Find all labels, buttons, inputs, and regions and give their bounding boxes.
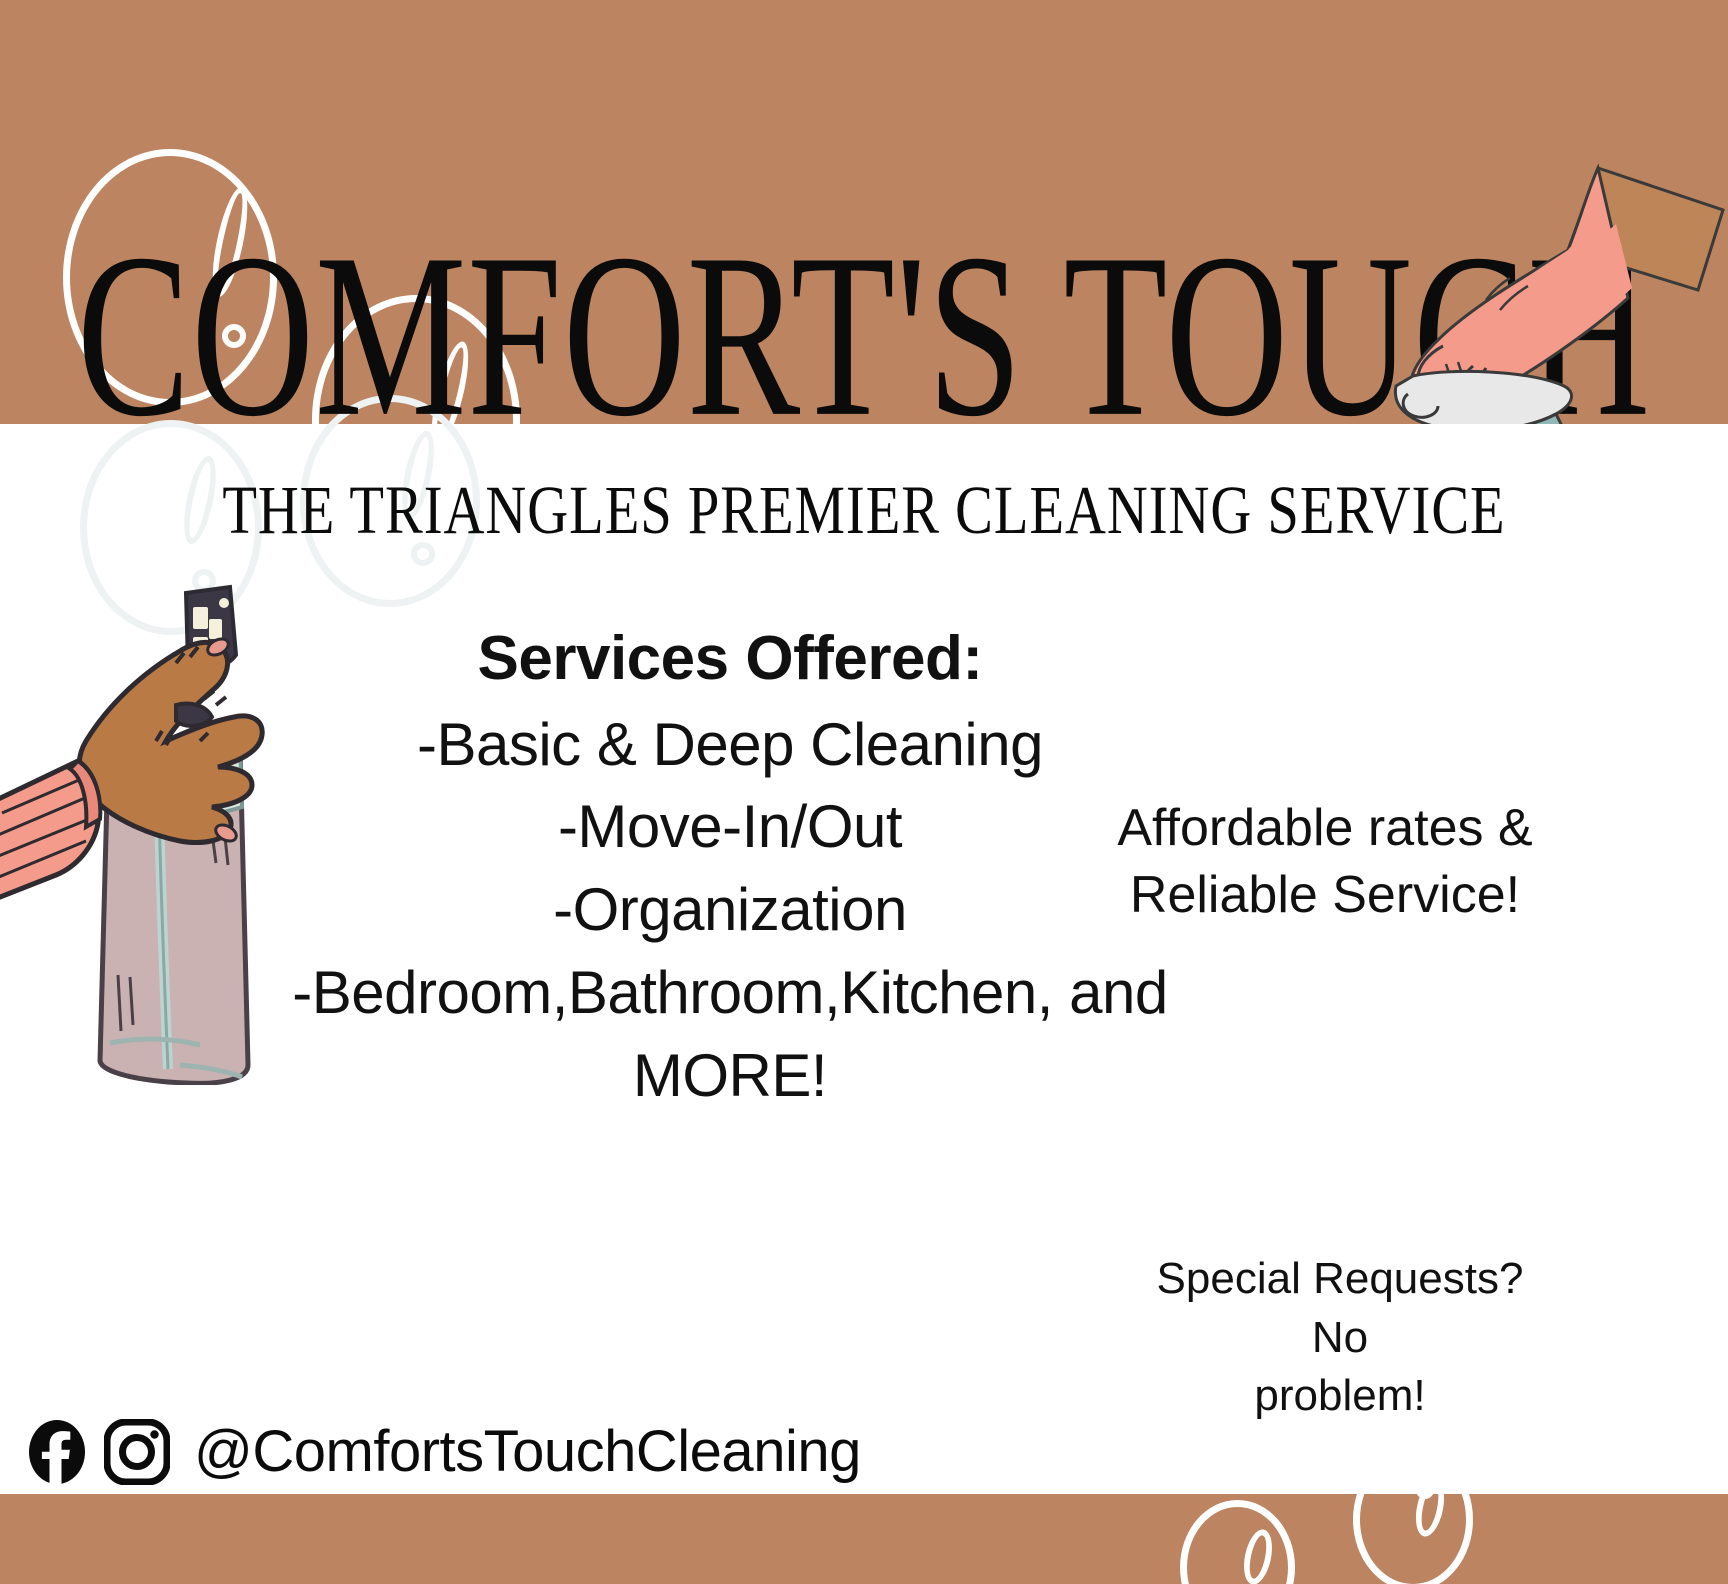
service-item: -Bedroom,Bathroom,Kitchen, and bbox=[180, 952, 1280, 1035]
bubble-highlight-dot bbox=[222, 324, 246, 348]
special-requests-note: Special Requests? No problem! bbox=[1130, 1250, 1550, 1426]
affordable-rates-note: Affordable rates & Reliable Service! bbox=[1090, 795, 1560, 928]
services-heading: Services Offered: bbox=[180, 620, 1280, 698]
bubble-highlight-streak bbox=[1239, 1527, 1276, 1584]
service-item: -Basic & Deep Cleaning bbox=[180, 704, 1280, 787]
rates-line-1: Affordable rates & bbox=[1090, 795, 1560, 862]
social-handle[interactable]: @ComfortsTouchCleaning bbox=[194, 1418, 861, 1485]
instagram-icon[interactable] bbox=[104, 1419, 170, 1485]
rates-line-2: Reliable Service! bbox=[1090, 862, 1560, 929]
bubble-highlight-dot bbox=[1416, 1481, 1434, 1499]
service-item: MORE! bbox=[180, 1035, 1280, 1118]
header-band: COMFORT'S TOUCH CLEANING bbox=[0, 0, 1728, 424]
bubble-highlight-streak bbox=[206, 185, 255, 300]
soap-bubble-icon bbox=[1353, 1448, 1473, 1584]
tagline: THE TRIANGLES PREMIER CLEANING SERVICE bbox=[35, 476, 1694, 544]
facebook-icon[interactable] bbox=[24, 1419, 90, 1485]
social-row: @ComfortsTouchCleaning bbox=[24, 1418, 861, 1485]
soap-bubble-icon bbox=[63, 149, 277, 406]
special-line-1: Special Requests? No bbox=[1130, 1250, 1550, 1367]
cleaning-service-flyer: COMFORT'S TOUCH CLEANING THE TRIANGLES P… bbox=[0, 0, 1728, 1584]
special-line-2: problem! bbox=[1130, 1367, 1550, 1426]
hand-with-scrub-brush-illustration bbox=[1268, 150, 1728, 424]
